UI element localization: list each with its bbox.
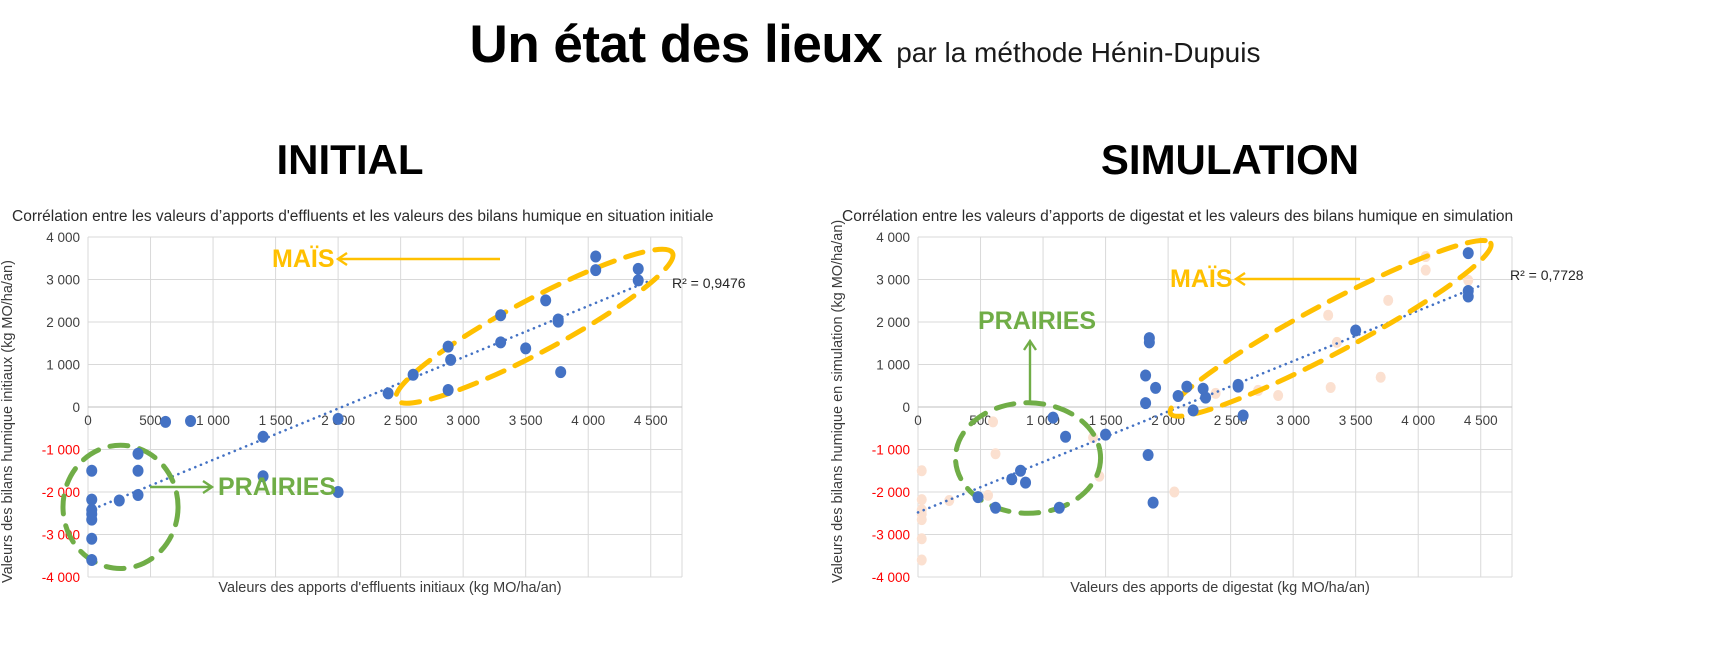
data-point [1143, 449, 1154, 461]
faded-data-point [917, 465, 927, 476]
svg-text:3 500: 3 500 [509, 413, 543, 428]
slide-title: Un état des lieuxpar la méthode Hénin-Du… [0, 14, 1730, 75]
data-point [445, 354, 456, 366]
data-point [1200, 392, 1211, 404]
data-point [1140, 397, 1151, 409]
svg-text:-3 000: -3 000 [872, 528, 910, 543]
annotation-mais: MAÏS [272, 245, 335, 273]
annotation-prairies: PRAIRIES [978, 307, 1096, 335]
data-point [1144, 336, 1155, 348]
svg-text:3 500: 3 500 [1339, 413, 1373, 428]
data-point [133, 465, 144, 477]
data-point [1188, 404, 1199, 416]
faded-data-point [991, 448, 1001, 459]
data-point [495, 336, 506, 348]
data-point [633, 274, 644, 286]
y-axis-tick-labels: -4 000-3 000-2 000-1 00001 0002 0003 000… [42, 230, 80, 585]
scatter-plot-initial: -4 000-3 000-2 000-1 00001 0002 0003 000… [0, 205, 790, 605]
x-axis-tick-labels: 05001 0001 5002 0002 5003 0003 5004 0004… [84, 413, 667, 428]
annotations: MAÏSPRAIRIES [150, 245, 500, 501]
svg-text:-4 000: -4 000 [872, 570, 910, 585]
annotation-prairies: PRAIRIES [218, 473, 336, 501]
svg-text:-4 000: -4 000 [42, 570, 80, 585]
data-point [1181, 381, 1192, 393]
svg-text:0: 0 [914, 413, 922, 428]
svg-text:4 000: 4 000 [571, 413, 605, 428]
data-point [86, 554, 97, 566]
panel-heading-simulation: SIMULATION [880, 136, 1580, 184]
svg-text:1 000: 1 000 [196, 413, 230, 428]
page-title: Un état des lieux [470, 15, 883, 74]
svg-text:2 500: 2 500 [384, 413, 418, 428]
data-point [973, 491, 984, 503]
x-axis-tick-labels: 05001 0001 5002 0002 5003 0003 5004 0004… [914, 413, 1497, 428]
group-ellipse-maïs [1159, 221, 1502, 435]
slide-root: Un état des lieuxpar la méthode Hénin-Du… [0, 0, 1730, 671]
data-point [540, 294, 551, 306]
svg-text:-1 000: -1 000 [42, 443, 80, 458]
data-point [553, 316, 564, 328]
data-point [1173, 390, 1184, 402]
data-point [1100, 429, 1111, 441]
annotation-mais: MAÏS [1170, 265, 1233, 293]
data-point [1233, 379, 1244, 391]
data-point [443, 384, 454, 396]
group-ellipses [63, 230, 685, 569]
svg-text:4 500: 4 500 [1464, 413, 1498, 428]
data-point [86, 533, 97, 545]
svg-text:3 000: 3 000 [46, 273, 80, 288]
data-point [1463, 291, 1474, 303]
svg-text:-2 000: -2 000 [42, 485, 80, 500]
panel-heading-initial: INITIAL [0, 136, 700, 184]
faded-data-point [1323, 310, 1333, 321]
data-point [633, 263, 644, 275]
data-point [258, 431, 269, 443]
page-subtitle: par la méthode Hénin-Dupuis [896, 37, 1260, 68]
svg-text:4 000: 4 000 [876, 230, 910, 245]
data-point [990, 502, 1001, 514]
chart-panel-initial: Corrélation entre les valeurs d’apports … [0, 205, 790, 605]
faded-data-point [917, 555, 927, 566]
data-point [1140, 370, 1151, 382]
data-point [408, 369, 419, 381]
data-point [1150, 382, 1161, 394]
svg-text:-2 000: -2 000 [872, 485, 910, 500]
data-point [443, 341, 454, 353]
faded-data-point [1326, 382, 1336, 393]
data-point [133, 489, 144, 501]
data-point [133, 448, 144, 460]
faded-data-point [917, 533, 927, 544]
data-point [495, 309, 506, 321]
svg-text:1 500: 1 500 [259, 413, 293, 428]
svg-text:2 000: 2 000 [876, 315, 910, 330]
r2-label-initial: R² = 0,9476 [672, 275, 746, 291]
data-point [86, 514, 97, 526]
data-point [1060, 431, 1071, 443]
chart-panel-simulation: Corrélation entre les valeurs d’apports … [830, 205, 1620, 605]
data-point [1020, 477, 1031, 489]
annotations: MAÏSPRAIRIES [978, 265, 1360, 405]
svg-text:0: 0 [72, 400, 80, 415]
svg-text:500: 500 [139, 413, 162, 428]
data-point [1054, 502, 1065, 514]
data-point [86, 465, 97, 477]
data-point [1048, 412, 1059, 424]
svg-text:3 000: 3 000 [876, 273, 910, 288]
faded-data-point [1376, 372, 1386, 383]
svg-text:0: 0 [902, 400, 910, 415]
data-point [1148, 497, 1159, 509]
faded-data-point [917, 494, 927, 505]
faded-data-point [1169, 487, 1179, 498]
data-point [555, 366, 566, 378]
y-axis-tick-labels: -4 000-3 000-2 000-1 00001 0002 0003 000… [872, 230, 910, 585]
group-ellipse-prairies [63, 445, 178, 568]
faded-data-point [983, 490, 993, 501]
faded-data-point [917, 514, 927, 525]
svg-text:4 000: 4 000 [46, 230, 80, 245]
data-point [185, 415, 196, 427]
data-point [520, 342, 531, 354]
svg-text:0: 0 [84, 413, 92, 428]
svg-text:4 500: 4 500 [634, 413, 668, 428]
data-point [590, 251, 601, 263]
svg-text:1 000: 1 000 [46, 358, 80, 373]
faded-data-point [988, 416, 998, 427]
svg-text:1 500: 1 500 [1089, 413, 1123, 428]
svg-text:4 000: 4 000 [1401, 413, 1435, 428]
svg-text:3 000: 3 000 [1276, 413, 1310, 428]
data-points [86, 251, 643, 566]
r2-label-simulation: R² = 0,7728 [1510, 267, 1584, 283]
svg-text:1 000: 1 000 [876, 358, 910, 373]
faded-data-point [1421, 265, 1431, 276]
svg-text:2 000: 2 000 [46, 315, 80, 330]
faded-data-point [1383, 295, 1393, 306]
data-point [160, 416, 171, 428]
svg-text:-1 000: -1 000 [872, 443, 910, 458]
scatter-plot-simulation: -4 000-3 000-2 000-1 00001 0002 0003 000… [830, 205, 1620, 605]
svg-text:3 000: 3 000 [446, 413, 480, 428]
data-point [1238, 410, 1249, 422]
faded-data-point [1273, 390, 1283, 401]
data-point [1006, 473, 1017, 485]
data-point [1350, 325, 1361, 337]
data-point [114, 495, 125, 507]
data-point [333, 413, 344, 425]
data-point [1463, 247, 1474, 259]
data-point [383, 387, 394, 399]
data-point [590, 264, 601, 276]
data-point [1015, 465, 1026, 477]
